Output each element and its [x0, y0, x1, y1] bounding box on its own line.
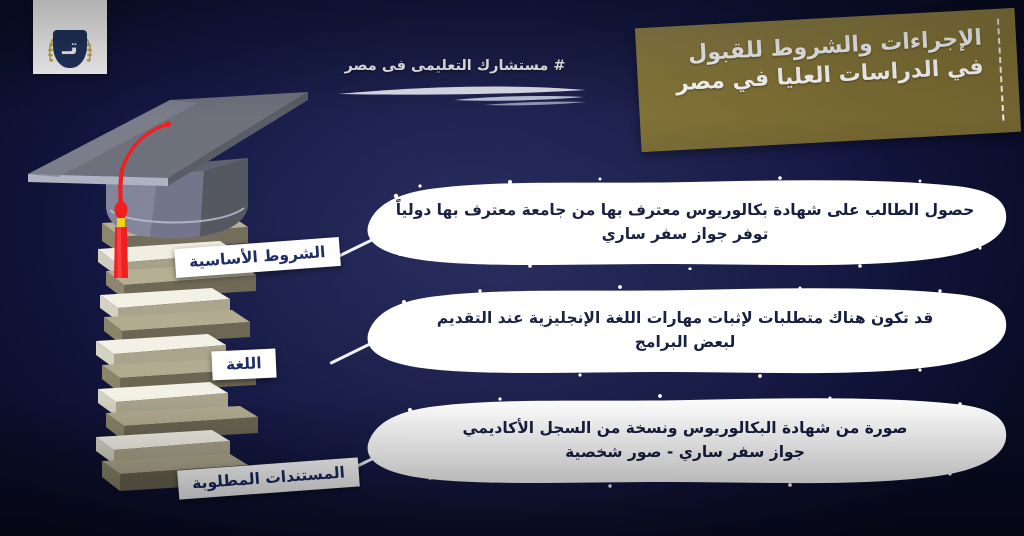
bubble-3-line-2: جواز سفر ساري - صور شخصية [386, 440, 984, 464]
bubble-2-line-2: لبعض البرامج [386, 330, 984, 354]
bubble-text-2: قد تكون هناك متطلبات لإثبات مهارات اللغة… [386, 306, 984, 354]
content-bubble-required-documents: صورة من شهادة البكالوريوس ونسخة من السجل… [360, 392, 1010, 488]
mortarboard [28, 92, 308, 186]
bubble-1-line-1: حصول الطالب على شهادة بكالوريوس معترف به… [386, 198, 984, 222]
logo-letter: تـ [53, 30, 87, 68]
page-title: الإجراءات والشروط للقبول في الدراسات الع… [650, 24, 985, 100]
title-banner: الإجراءات والشروط للقبول في الدراسات الع… [635, 8, 1021, 152]
brand-logo: تـ [33, 0, 107, 74]
bubble-3-line-1: صورة من شهادة البكالوريوس ونسخة من السجل… [386, 416, 984, 440]
bubble-2-line-1: قد تكون هناك متطلبات لإثبات مهارات اللغة… [386, 306, 984, 330]
content-bubble-basic-conditions: حصول الطالب على شهادة بكالوريوس معترف به… [360, 174, 1010, 270]
bubble-1-line-2: توفر جواز سفر ساري [386, 222, 984, 246]
banner-dashed-divider [997, 19, 1005, 121]
content-bubble-language: قد تكون هناك متطلبات لإثبات مهارات اللغة… [360, 282, 1010, 378]
infographic-canvas: تـ # مستشارك التعليمى فى مصر الإجراءات و… [0, 0, 1024, 536]
section-label-language[interactable]: اللغة [211, 349, 276, 381]
hashtag-block: # مستشارك التعليمى فى مصر [330, 58, 580, 74]
bubble-text-3: صورة من شهادة البكالوريوس ونسخة من السجل… [386, 416, 984, 464]
bubble-text-1: حصول الطالب على شهادة بكالوريوس معترف به… [386, 198, 984, 246]
logo-shield-icon: تـ [53, 30, 87, 68]
swoosh-decoration-icon [334, 80, 594, 106]
hashtag-text: # مستشارك التعليمى فى مصر [330, 58, 580, 74]
